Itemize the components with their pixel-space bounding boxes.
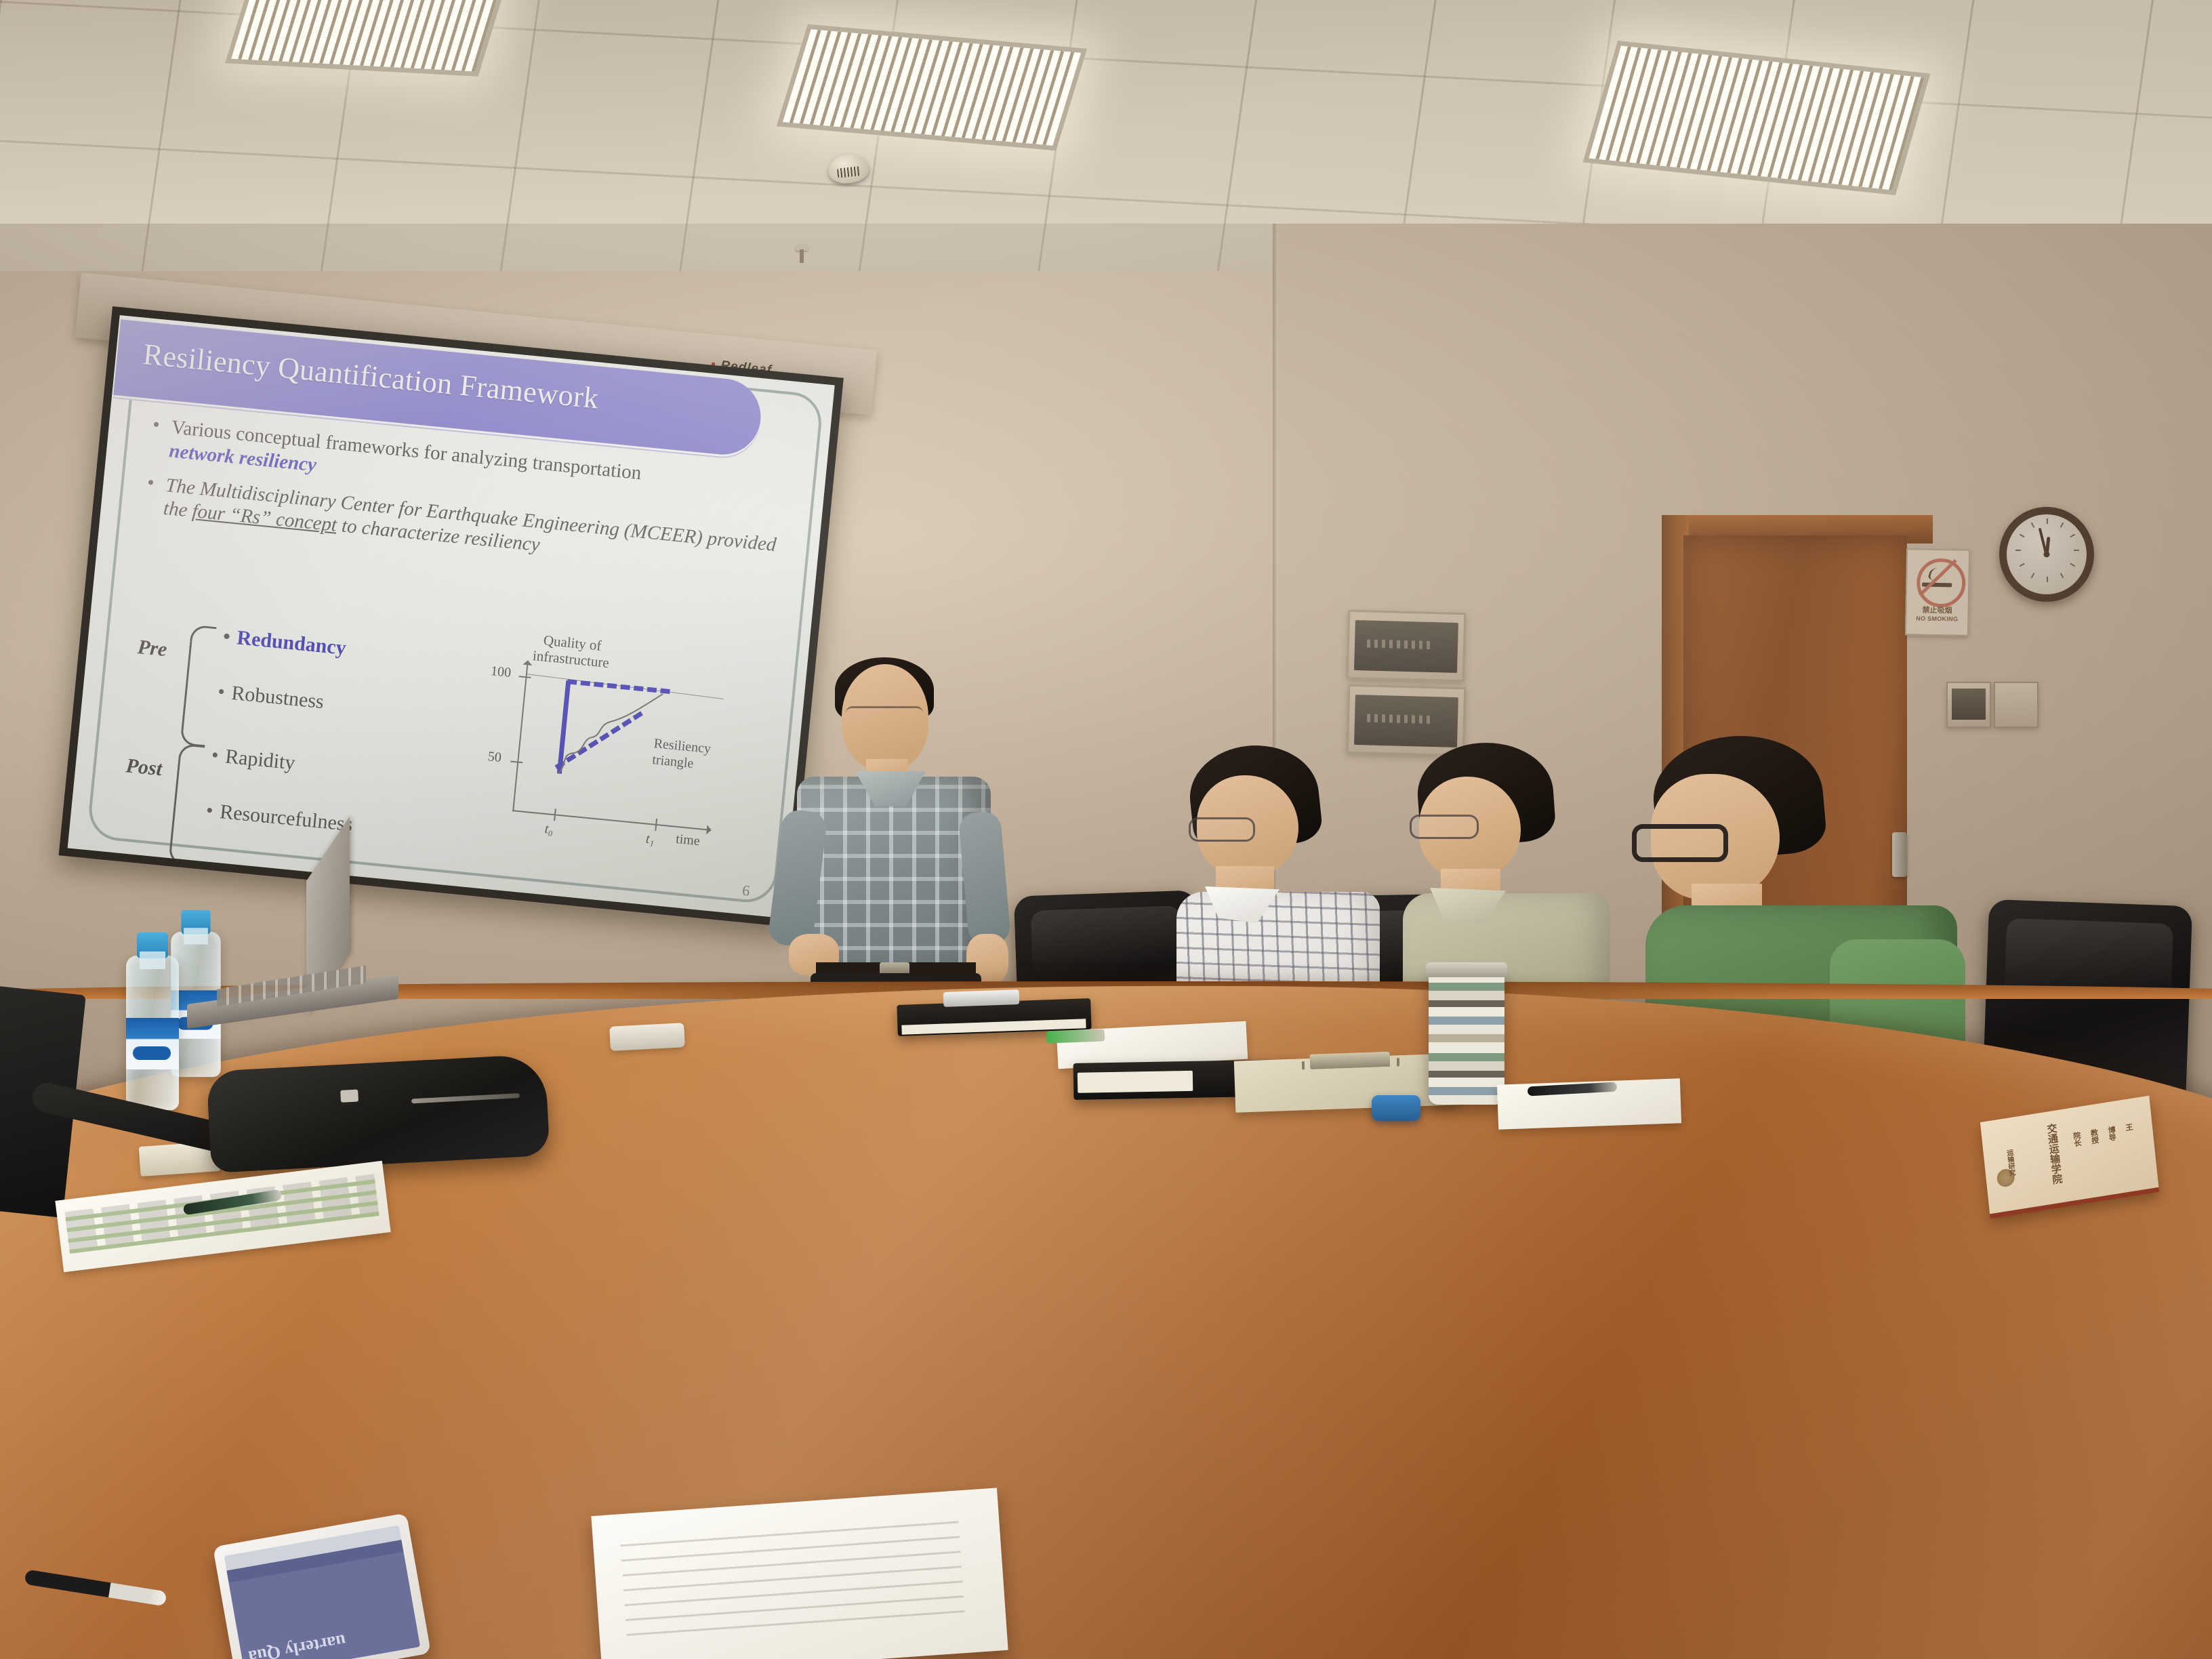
no-smoking-text-english: NO SMOKING <box>1906 615 1967 623</box>
curly-brace-icon <box>180 625 216 747</box>
wall-control-panel-upper[interactable] <box>1347 610 1467 682</box>
clipboard-clip[interactable] <box>1309 1052 1390 1069</box>
ceiling-light-fixture <box>225 0 506 77</box>
clock-center-pin <box>2044 552 2050 558</box>
four-rs-item: Rapidity <box>210 743 296 775</box>
bottle-neck <box>140 951 165 969</box>
clipboard[interactable] <box>1234 1053 1459 1112</box>
wall-plaque-left <box>1946 682 1991 728</box>
projection-screen: Resiliency Quantification Framework Vari… <box>59 306 844 927</box>
y-tick-label-100: 100 <box>490 663 512 681</box>
attendee-glasses <box>1410 815 1479 839</box>
conference-room-scene: Redleaf Resiliency Quantification Framew… <box>0 0 2212 1659</box>
group-label-pre: Pre <box>136 636 167 661</box>
no-smoking-text-chinese: 禁止吸烟 <box>1906 604 1967 616</box>
annotation-line2: triangle <box>651 752 694 771</box>
slide-title-text: Resiliency Quantification Framework <box>142 337 600 416</box>
light-louver-grille <box>231 0 499 72</box>
name-card-line-3: 教授 <box>2090 1128 2099 1145</box>
y-tick-label-50: 50 <box>487 749 502 766</box>
presentation-slide: Resiliency Quantification Framework Vari… <box>68 315 835 918</box>
screen-surface: Resiliency Quantification Framework Vari… <box>68 315 835 918</box>
chart-y-axis <box>512 663 528 811</box>
four-rs-block: Pre Redundancy Robustness Post Rapidity … <box>123 617 424 824</box>
name-card-line-2: 院长 <box>2072 1131 2081 1147</box>
wall-plaque-right <box>1994 682 2039 728</box>
bag-zipper[interactable] <box>411 1093 520 1103</box>
bag-clip[interactable] <box>340 1090 359 1103</box>
printed-handout[interactable] <box>591 1488 1008 1659</box>
chart-actual-recovery-curve <box>555 682 665 786</box>
name-card-line-4: 博导 <box>2108 1126 2116 1142</box>
presenter-glasses <box>846 706 923 722</box>
small-tray[interactable] <box>609 1023 685 1051</box>
four-rs-item: Robustness <box>217 680 325 714</box>
shoulder-bag[interactable] <box>206 1054 550 1173</box>
x-axis-label: time <box>675 832 701 849</box>
attendee-glasses <box>1632 824 1728 862</box>
wall-clock <box>1999 507 2094 602</box>
fire-sprinkler-icon <box>793 244 811 267</box>
presenter-person <box>793 664 996 1017</box>
handout-text-lines <box>619 1511 964 1636</box>
group-label-post: Post <box>125 754 163 781</box>
no-smoking-sign: 禁止吸烟 NO SMOKING <box>1905 548 1970 636</box>
x-tick-label-t1: t₁ <box>645 832 655 848</box>
light-louver-grille <box>783 29 1081 146</box>
travel-mug[interactable] <box>1429 969 1504 1105</box>
attendee-glasses <box>1189 817 1255 842</box>
laptop-computer[interactable] <box>187 916 404 1018</box>
smartphone[interactable] <box>943 989 1020 1007</box>
tablet-slide-text: uarterly Qua <box>247 1630 347 1659</box>
chart-x-axis <box>512 810 708 830</box>
bottle-label <box>126 1018 179 1069</box>
water-bottle[interactable] <box>126 956 179 1110</box>
chart-annotation: Resiliency triangle <box>651 735 729 775</box>
tablet-screen[interactable]: uarterly Qua <box>224 1525 421 1659</box>
highlighter-marker[interactable] <box>1046 1029 1105 1044</box>
mug-lid[interactable] <box>1426 962 1507 977</box>
name-card-line-5: 王 <box>2125 1123 2133 1132</box>
blue-bottle-cap[interactable] <box>1372 1095 1420 1121</box>
name-card-line-1: 交通运输学院 <box>2046 1123 2062 1185</box>
x-tick-label-t0: t₀ <box>544 821 554 838</box>
resiliency-triangle-chart: Quality of infrastructure 100 50 t₀ t₁ t… <box>424 626 733 857</box>
